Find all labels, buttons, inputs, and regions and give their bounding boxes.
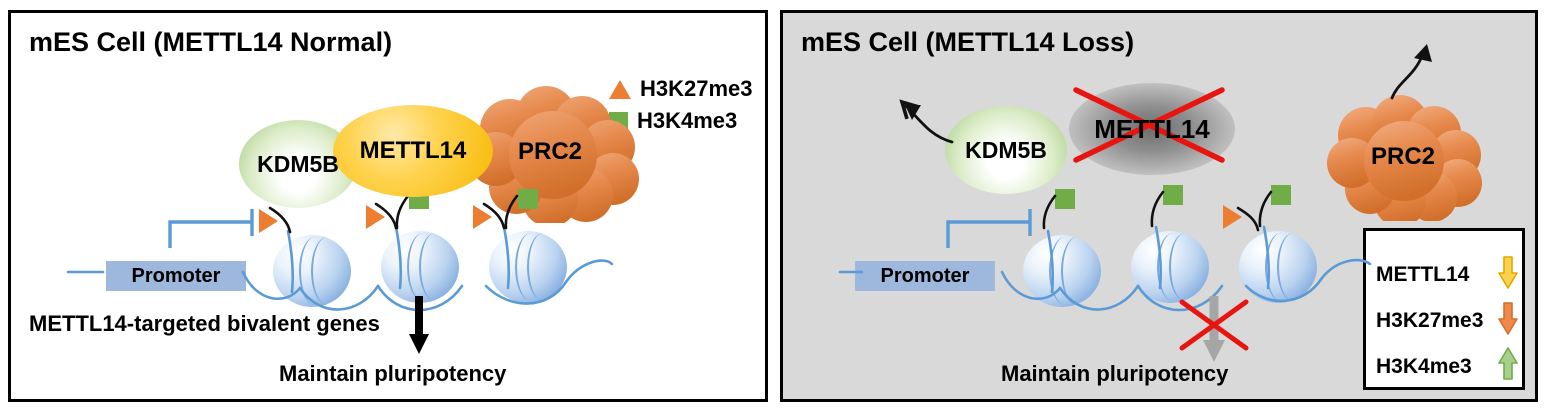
panel-mettl14-normal: mES Cell (METTL14 Normal) H3K27me3 H3K4m… [8,10,768,402]
panel-mettl14-loss: mES Cell (METTL14 Loss) KDM5B METTL14 [780,10,1538,402]
mark-h3k4me3-right-3 [1271,185,1291,205]
panel-title-left: mES Cell (METTL14 Normal) [29,27,392,58]
mark-h3k27me3-right-1 [1223,205,1242,229]
caption-outcome-left: Maintain pluripotency [279,361,506,387]
mark-h3k27me3-left-1 [259,209,278,233]
protein-mettl14-left: METTL14 [333,105,493,197]
caption-target-genes-left: METTL14-targeted bivalent genes [29,311,380,337]
legend-label-h3k4me3: H3K4me3 [637,108,737,134]
mark-h3k27me3-left-2 [366,205,385,229]
nucleosome-left-1 [273,235,351,307]
nucleosome-right-1 [1023,235,1101,307]
mark-h3k4me3-right-2 [1163,185,1183,205]
promoter-box-right: Promoter [855,261,995,291]
summary-row-h3k27me3: H3K27me3 [1376,301,1518,340]
legend-label-h3k27me3: H3K27me3 [640,76,753,102]
summary-row-h3k4me3: H3K4me3 [1376,347,1518,386]
nucleosome-right-2 [1131,231,1209,303]
caption-outcome-right: Maintain pluripotency [1001,361,1228,387]
nucleosome-left-2 [381,231,459,303]
mark-h3k4me3-right-1 [1055,189,1075,209]
down-arrow-icon-mettl14 [1498,255,1518,294]
nucleosome-left-3 [489,231,567,303]
protein-mettl14-right-crossed: METTL14 [1069,83,1235,175]
protein-kdm5b-right: KDM5B [945,106,1067,194]
panel-title-right: mES Cell (METTL14 Loss) [801,27,1134,58]
summary-box: METTL14 H3K27me3 H3K4me3 [1363,228,1525,390]
figure-canvas: mES Cell (METTL14 Normal) H3K27me3 H3K4m… [0,0,1547,414]
protein-prc2-right: PRC2 [1328,101,1478,213]
summary-row-mettl14: METTL14 [1376,255,1518,294]
nucleosome-right-3 [1239,231,1317,303]
promoter-box-left: Promoter [106,261,246,291]
up-arrow-icon-h3k4me3 [1498,347,1518,386]
down-arrow-icon-h3k27me3 [1498,301,1518,340]
